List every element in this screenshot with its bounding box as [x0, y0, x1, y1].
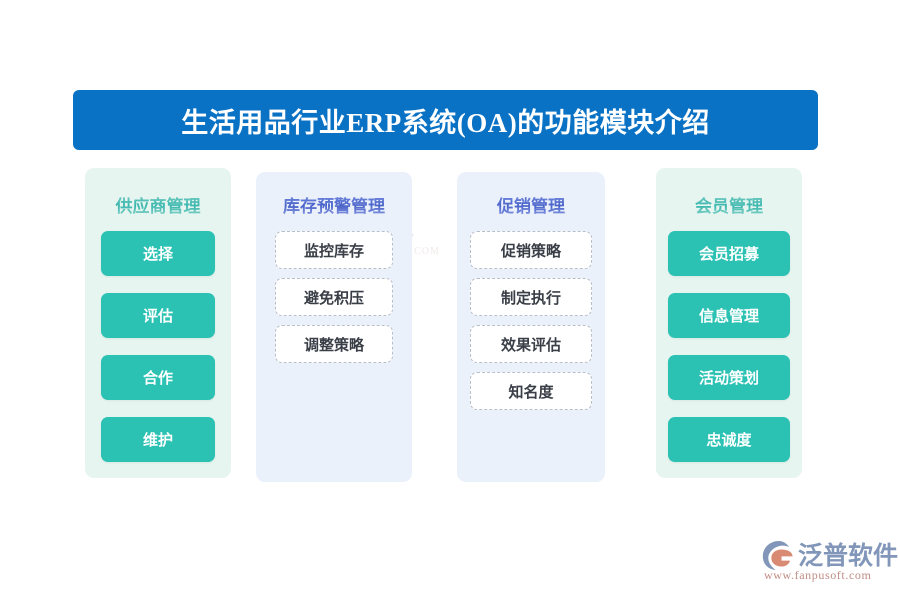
module-item-monitor-inventory[interactable]: 监控库存 — [275, 231, 393, 269]
module-item-activity-planning[interactable]: 活动策划 — [668, 355, 790, 400]
module-item-avoid-overstock[interactable]: 避免积压 — [275, 278, 393, 316]
module-item-promotion-strategy[interactable]: 促销策略 — [470, 231, 592, 269]
module-item-evaluate[interactable]: 评估 — [101, 293, 215, 338]
module-item-member-recruitment[interactable]: 会员招募 — [668, 231, 790, 276]
column-member-management: 会员管理 会员招募 信息管理 活动策划 忠诚度 — [656, 168, 802, 478]
module-item-plan-execution[interactable]: 制定执行 — [470, 278, 592, 316]
module-item-loyalty[interactable]: 忠诚度 — [668, 417, 790, 462]
brand-logo: 泛普软件 www.fanpusoft.com — [762, 538, 890, 588]
title-banner: 生活用品行业ERP系统(OA)的功能模块介绍 — [73, 90, 818, 150]
module-item-select[interactable]: 选择 — [101, 231, 215, 276]
column-supplier-management: 供应商管理 选择 评估 合作 维护 — [85, 168, 231, 478]
module-item-information-management[interactable]: 信息管理 — [668, 293, 790, 338]
column-promotion-management: 促销管理 促销策略 制定执行 效果评估 知名度 — [457, 172, 605, 482]
brand-logo-icon — [762, 540, 796, 571]
module-item-maintain[interactable]: 维护 — [101, 417, 215, 462]
infographic-canvas: 生活用品行业ERP系统(OA)的功能模块介绍 泛普软件 WWW.FANPUSOF… — [0, 0, 900, 600]
module-item-adjust-strategy[interactable]: 调整策略 — [275, 325, 393, 363]
module-item-cooperate[interactable]: 合作 — [101, 355, 215, 400]
module-item-effect-evaluation[interactable]: 效果评估 — [470, 325, 592, 363]
brand-logo-name: 泛普软件 — [798, 536, 898, 572]
module-item-brand-awareness[interactable]: 知名度 — [470, 372, 592, 410]
column-title: 促销管理 — [457, 192, 605, 217]
page-title: 生活用品行业ERP系统(OA)的功能模块介绍 — [181, 101, 709, 140]
column-title: 供应商管理 — [85, 192, 231, 217]
column-inventory-alert-management: 库存预警管理 监控库存 避免积压 调整策略 — [256, 172, 412, 482]
column-title: 会员管理 — [656, 192, 802, 217]
brand-logo-url: www.fanpusoft.com — [764, 568, 871, 583]
column-title: 库存预警管理 — [256, 192, 412, 217]
